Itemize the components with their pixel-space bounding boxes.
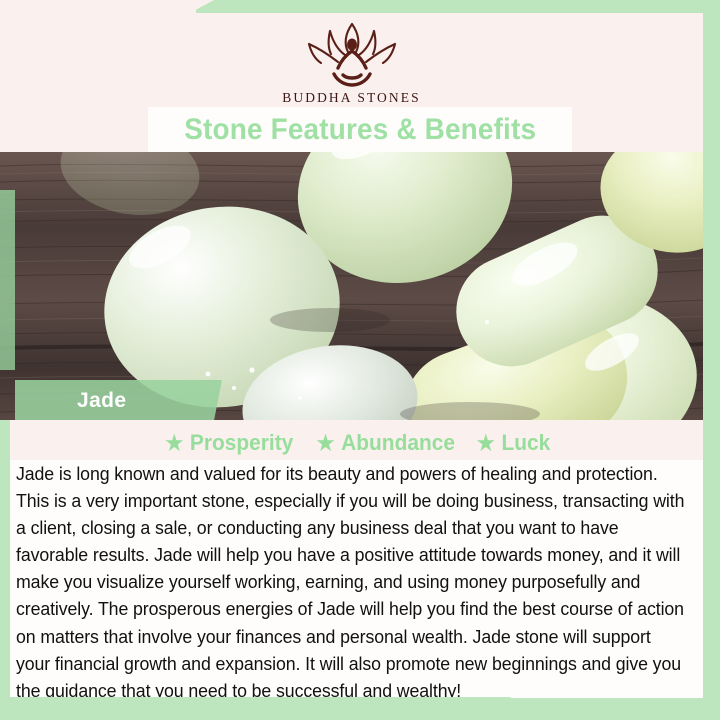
- stone-photo-image: [0, 152, 704, 420]
- stone-name-label: Jade: [77, 389, 126, 413]
- benefit-abundance: ★ Abundance: [317, 430, 455, 456]
- right-green-frame: [703, 0, 720, 720]
- stone-photo: [0, 152, 704, 420]
- brand-logo: BUDDHA STONES: [0, 18, 703, 106]
- star-icon: ★: [166, 433, 184, 454]
- bottom-green-band: [0, 697, 560, 720]
- star-icon: ★: [317, 433, 335, 454]
- page-title: Stone Features & Benefits: [184, 113, 536, 147]
- benefit-label: Luck: [501, 430, 550, 456]
- benefit-label: Prosperity: [190, 430, 293, 456]
- benefit-luck: ★ Luck: [476, 430, 549, 456]
- benefit-label: Abundance: [341, 430, 455, 456]
- photo-left-accent-strip: [0, 190, 15, 370]
- star-icon: ★: [476, 433, 494, 454]
- title-banner: Stone Features & Benefits: [148, 107, 572, 152]
- top-left-pink-fill: [0, 0, 196, 13]
- top-left-diagonal-notch: [188, 0, 214, 14]
- benefits-row: ★ Prosperity ★ Abundance ★ Luck: [10, 430, 704, 456]
- lotus-meditation-icon: [300, 18, 404, 88]
- benefit-prosperity: ★ Prosperity: [166, 430, 294, 456]
- body-description: Jade is long known and valued for its be…: [16, 461, 687, 705]
- poster-canvas: BUDDHA STONES Stone Features & Benefits: [0, 0, 720, 720]
- brand-wordmark: BUDDHA STONES: [282, 90, 420, 106]
- stone-name-band: Jade: [15, 380, 222, 422]
